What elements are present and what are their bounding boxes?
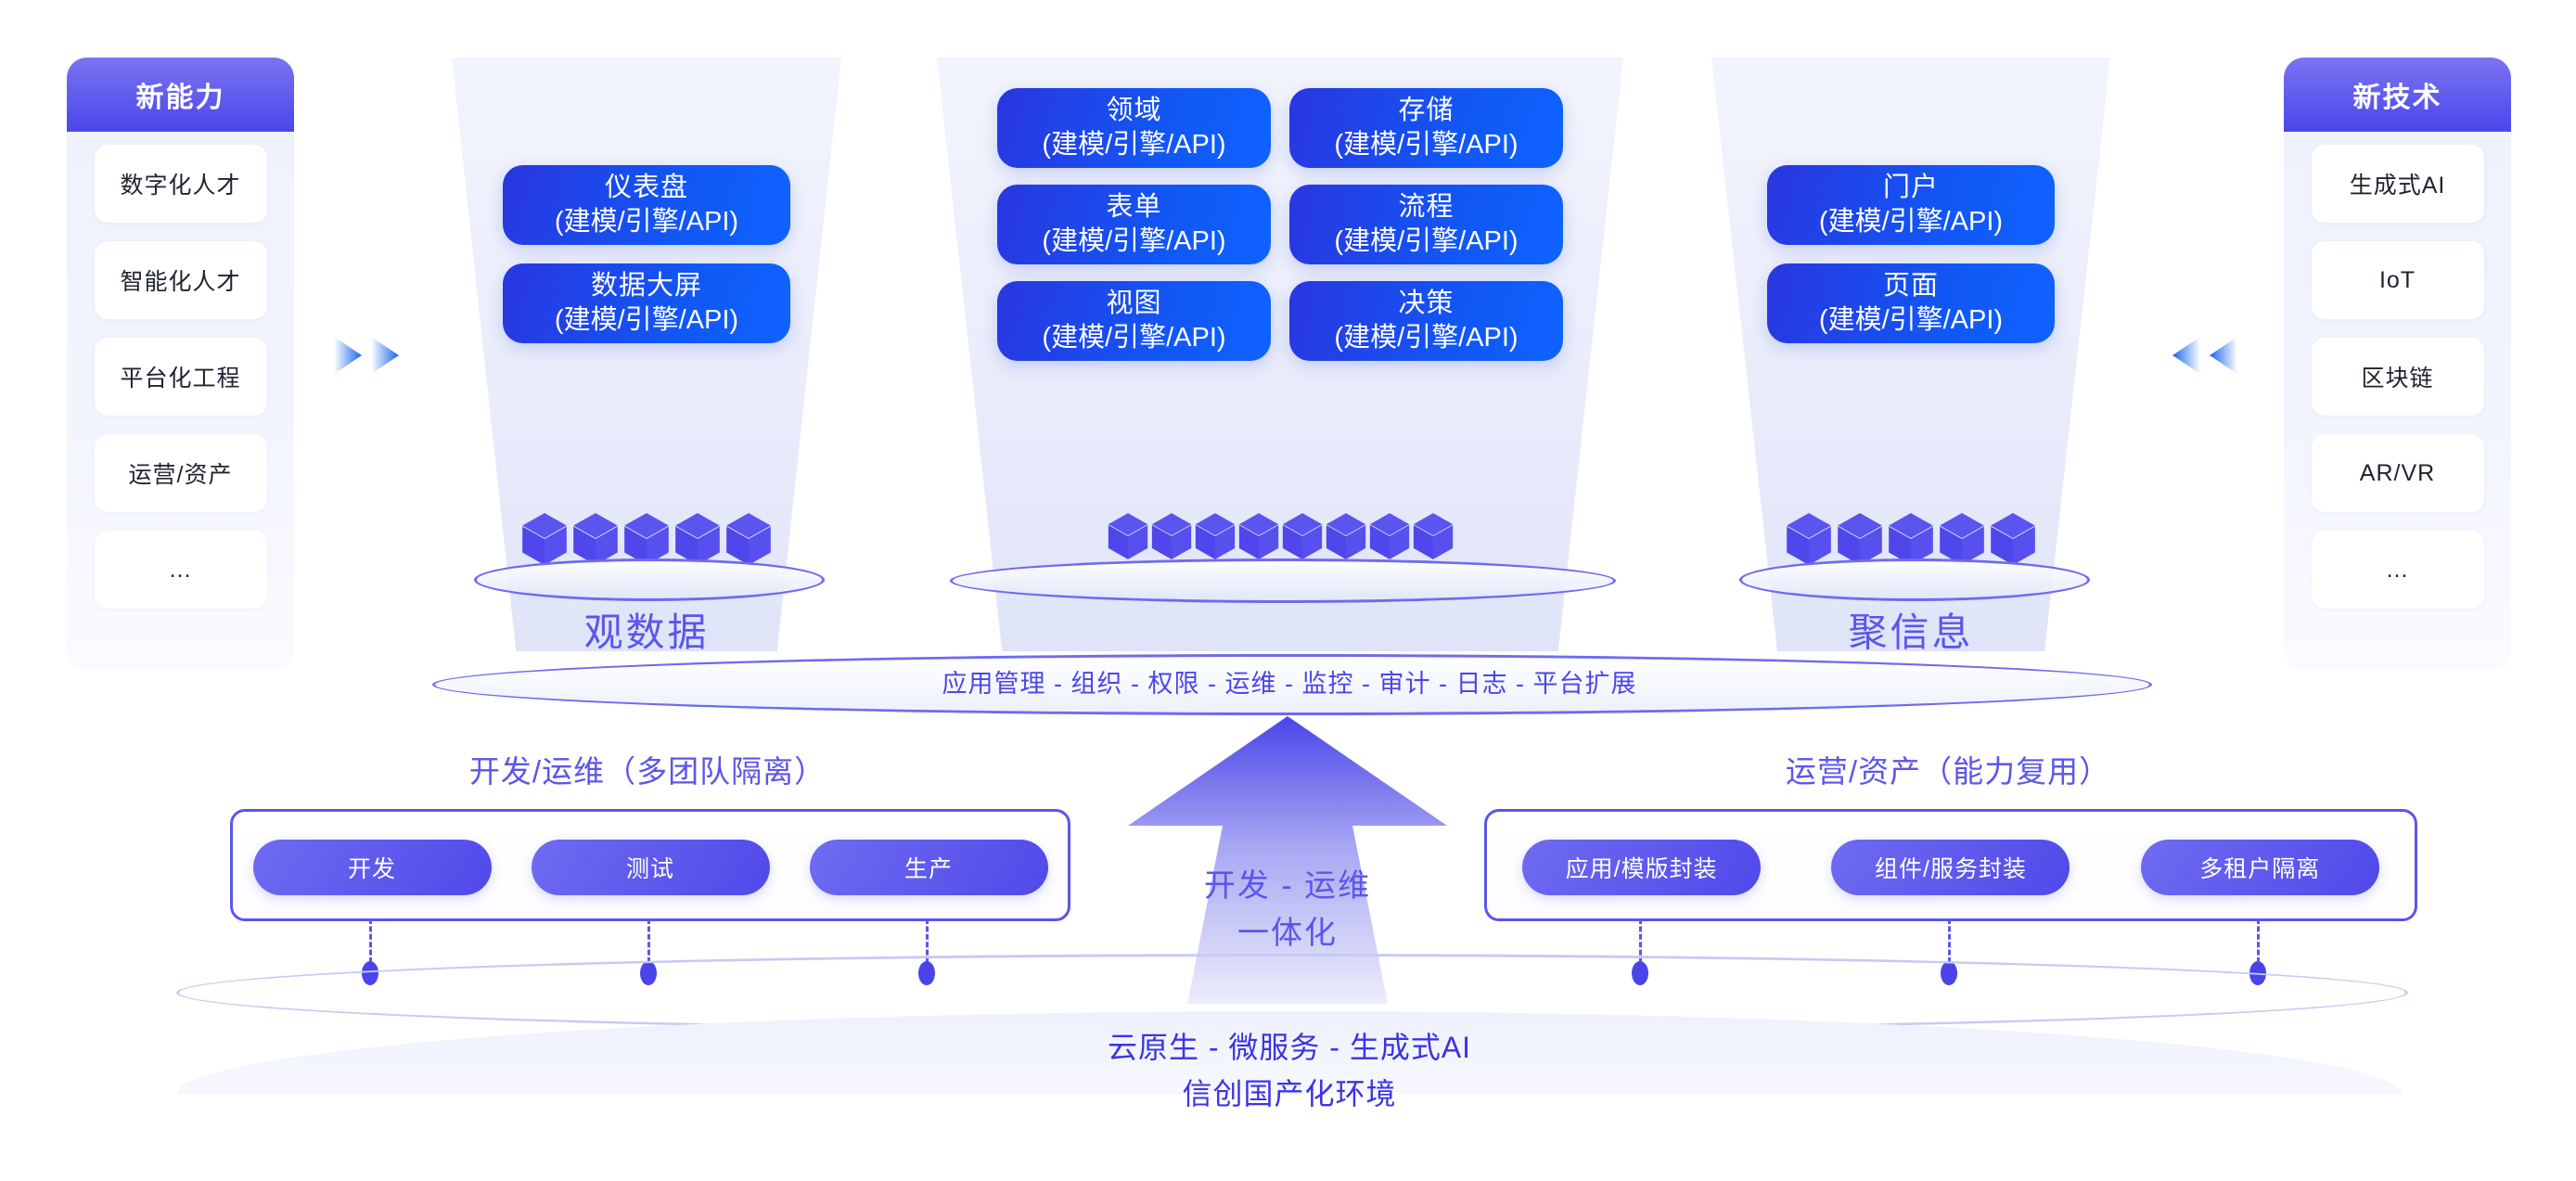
card-title: 门户 <box>1883 171 1939 205</box>
funnel-card-list: 门户 (建模/引擎/API) 页面 (建模/引擎/API) <box>1767 165 2055 343</box>
capability-card[interactable]: 门户 (建模/引擎/API) <box>1767 165 2055 245</box>
card-subtitle: (建模/引擎/API) <box>1334 128 1518 162</box>
asset-pill[interactable]: 应用/模版封装 <box>1522 840 1761 895</box>
card-title: 视图 <box>1106 287 1161 321</box>
left-panel-list: 数字化人才 智能化人才 平台化工程 运营/资产 ... <box>67 145 294 609</box>
right-panel-item[interactable]: ... <box>2312 531 2484 609</box>
card-title: 存储 <box>1398 94 1454 128</box>
left-capability-panel: 新能力 数字化人才 智能化人才 平台化工程 运营/资产 ... <box>67 58 294 670</box>
connector-line <box>1948 918 1951 963</box>
card-subtitle: (建模/引擎/API) <box>1042 225 1225 259</box>
cube-icon <box>1107 512 1149 560</box>
card-subtitle: (建模/引擎/API) <box>555 205 738 239</box>
card-title: 页面 <box>1883 269 1939 303</box>
cube-icon <box>1150 512 1193 560</box>
cube-icon <box>1194 512 1237 560</box>
card-subtitle: (建模/引擎/API) <box>555 303 738 338</box>
env-pill[interactable]: 测试 <box>532 840 770 895</box>
asset-pill[interactable]: 多租户隔离 <box>2141 840 2379 895</box>
capability-card[interactable]: 仪表盘 (建模/引擎/API) <box>503 165 790 245</box>
card-subtitle: (建模/引擎/API) <box>1819 205 2003 239</box>
card-subtitle: (建模/引擎/API) <box>1042 128 1225 162</box>
card-subtitle: (建模/引擎/API) <box>1334 321 1518 355</box>
capability-card[interactable]: 页面 (建模/引擎/API) <box>1767 263 2055 343</box>
arrow-label-line1: 开发 - 运维 <box>1121 863 1455 910</box>
arrow-label-line2: 一体化 <box>1121 910 1455 957</box>
left-panel-item[interactable]: 数字化人才 <box>95 145 267 223</box>
cube-icon <box>1281 512 1324 560</box>
right-panel-item[interactable]: 区块链 <box>2312 338 2484 416</box>
right-panel-item[interactable]: IoT <box>2312 241 2484 319</box>
base-label-line2: 信创国产化环境 <box>176 1072 2403 1118</box>
capability-card[interactable]: 存储 (建模/引擎/API) <box>1289 88 1563 168</box>
cube-icon <box>1989 512 2037 566</box>
right-panel-item[interactable]: 生成式AI <box>2312 145 2484 223</box>
cube-icon <box>520 512 569 566</box>
right-technology-panel: 新技术 生成式AI IoT 区块链 AR/VR ... <box>2284 58 2511 670</box>
cube-icon <box>673 512 722 566</box>
bottom-left-box: 开发 测试 生产 <box>230 809 1070 921</box>
asset-pill[interactable]: 组件/服务封装 <box>1831 840 2070 895</box>
chevron-double-left-icon <box>2171 334 2239 377</box>
right-panel-title: 新技术 <box>2284 58 2511 132</box>
funnel-label: 聚信息 <box>1711 601 2110 658</box>
funnel-aggregate-info: 门户 (建模/引擎/API) 页面 (建模/引擎/API) 聚信息 <box>1711 58 2110 651</box>
left-panel-item[interactable]: 平台化工程 <box>95 338 267 416</box>
card-title: 决策 <box>1398 287 1454 321</box>
pill-row: 开发 测试 生产 <box>233 840 1068 895</box>
pill-row: 应用/模版封装 组件/服务封装 多租户隔离 <box>1487 840 2415 895</box>
right-panel-list: 生成式AI IoT 区块链 AR/VR ... <box>2284 145 2511 609</box>
card-subtitle: (建模/引擎/API) <box>1042 321 1225 355</box>
card-subtitle: (建模/引擎/API) <box>1819 303 2003 338</box>
cube-icon <box>1368 512 1411 560</box>
left-panel-title: 新能力 <box>67 58 294 132</box>
card-title: 表单 <box>1106 190 1161 225</box>
card-title: 数据大屏 <box>591 269 702 303</box>
env-pill[interactable]: 开发 <box>253 840 492 895</box>
bottom-left-title: 开发/运维（多团队隔离） <box>230 747 1065 791</box>
right-panel-item[interactable]: AR/VR <box>2312 434 2484 512</box>
capability-card[interactable]: 决策 (建模/引擎/API) <box>1289 281 1563 361</box>
left-panel-item[interactable]: 智能化人才 <box>95 241 267 319</box>
arrow-label: 开发 - 运维 一体化 <box>1121 863 1455 957</box>
capability-card[interactable]: 领域 (建模/引擎/API) <box>997 88 1271 168</box>
card-subtitle: (建模/引擎/API) <box>1334 225 1518 259</box>
bottom-right-title: 运营/资产（能力复用） <box>1484 747 2412 791</box>
cube-icon <box>1785 512 1833 566</box>
funnel-card-list: 领域 (建模/引擎/API) 存储 (建模/引擎/API) 表单 (建模/引擎/… <box>997 88 1563 361</box>
platform-bar-label: 应用管理 - 组织 - 权限 - 运维 - 监控 - 审计 - 日志 - 平台扩… <box>432 663 2147 700</box>
bottom-right-box: 应用/模版封装 组件/服务封装 多租户隔离 <box>1484 809 2417 921</box>
funnel-center-capabilities: 领域 (建模/引擎/API) 存储 (建模/引擎/API) 表单 (建模/引擎/… <box>937 58 1623 651</box>
cube-icon <box>1938 512 1986 566</box>
connector-line <box>647 918 650 963</box>
base-label: 云原生 - 微服务 - 生成式AI 信创国产化环境 <box>176 1025 2403 1117</box>
left-panel-item[interactable]: 运营/资产 <box>95 434 267 512</box>
funnel-card-list: 仪表盘 (建模/引擎/API) 数据大屏 (建模/引擎/API) <box>503 165 790 343</box>
diagram-canvas: 新能力 数字化人才 智能化人才 平台化工程 运营/资产 ... 新技术 生成式A… <box>0 0 2576 1181</box>
funnel-observe-data: 仪表盘 (建模/引擎/API) 数据大屏 (建模/引擎/API) 观数据 <box>452 58 841 651</box>
base-label-line1: 云原生 - 微服务 - 生成式AI <box>176 1025 2403 1072</box>
cube-icon <box>1325 512 1367 560</box>
left-panel-item[interactable]: ... <box>95 531 267 609</box>
cube-icon <box>724 512 773 566</box>
card-title: 仪表盘 <box>605 171 688 205</box>
chevron-double-right-icon <box>332 334 401 377</box>
connector-line <box>369 918 372 963</box>
cube-icon <box>1237 512 1280 560</box>
capability-card[interactable]: 视图 (建模/引擎/API) <box>997 281 1271 361</box>
funnel-label: 观数据 <box>452 601 841 658</box>
funnel-disc <box>474 558 825 601</box>
capability-card[interactable]: 数据大屏 (建模/引擎/API) <box>503 263 790 343</box>
card-title: 流程 <box>1398 190 1454 225</box>
cube-row <box>937 512 1623 560</box>
cube-icon <box>571 512 620 566</box>
cube-icon <box>1412 512 1455 560</box>
connector-line <box>2257 918 2260 963</box>
capability-card[interactable]: 表单 (建模/引擎/API) <box>997 185 1271 264</box>
cube-icon <box>1836 512 1884 566</box>
funnel-disc <box>1739 558 2090 601</box>
funnel-disc <box>950 558 1616 603</box>
card-title: 领域 <box>1106 94 1161 128</box>
capability-card[interactable]: 流程 (建模/引擎/API) <box>1289 185 1563 264</box>
env-pill[interactable]: 生产 <box>810 840 1048 895</box>
